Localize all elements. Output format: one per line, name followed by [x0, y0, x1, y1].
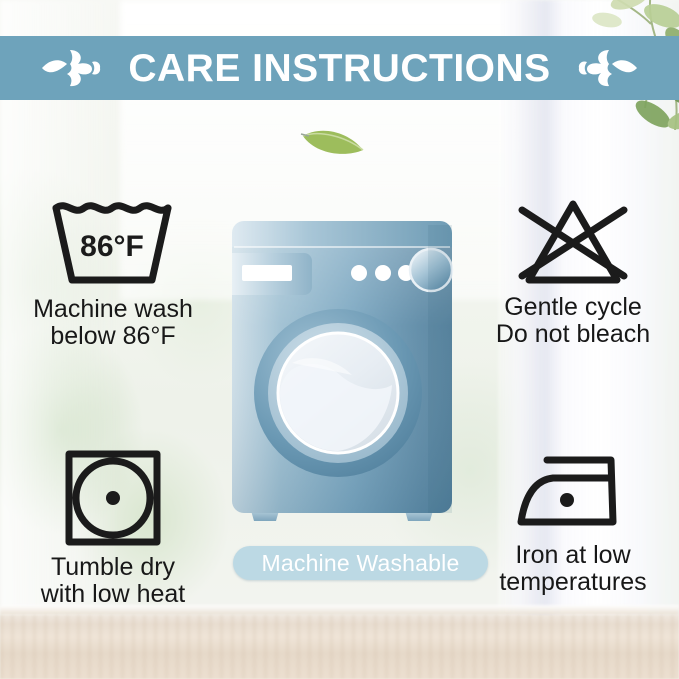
drawer-handle	[242, 265, 292, 281]
page-title: CARE INSTRUCTIONS	[128, 49, 550, 88]
care-instructions-infographic: CARE INSTRUCTIONS 86°F Machine wash belo…	[0, 0, 679, 679]
fleur-de-lis-icon	[577, 46, 639, 90]
heat-level-dot	[560, 493, 574, 507]
status-badge-label: Machine Washable	[262, 552, 460, 575]
care-symbol-machine-wash: 86°F Machine wash below 86°F	[8, 198, 218, 350]
care-symbol-do-not-bleach: Gentle cycle Do not bleach	[470, 196, 676, 348]
washer-top-panel	[232, 221, 452, 247]
tumble-dry-low-icon	[63, 448, 163, 548]
care-symbol-caption: Tumble dry with low heat	[41, 554, 186, 608]
fleur-de-lis-icon	[40, 46, 102, 90]
care-symbol-iron-low: Iron at low temperatures	[470, 452, 676, 596]
iron-one-dot-icon	[513, 452, 633, 536]
wash-temp-value: 86°F	[80, 230, 144, 263]
care-symbol-caption: Gentle cycle Do not bleach	[496, 294, 650, 348]
status-badge: Machine Washable	[233, 546, 488, 580]
wash-tub-icon: 86°F	[48, 198, 178, 290]
washing-machine-illustration	[228, 211, 456, 531]
heat-level-dot	[106, 491, 120, 505]
care-symbol-caption: Iron at low temperatures	[499, 542, 646, 596]
banner: CARE INSTRUCTIONS	[0, 36, 679, 100]
triangle-crossed-out-icon	[514, 196, 632, 288]
floating-leaf-icon	[299, 122, 369, 162]
wooden-table-surface	[0, 615, 679, 679]
indicator-dot[interactable]	[351, 265, 367, 281]
indicator-dot[interactable]	[375, 265, 391, 281]
care-symbol-tumble-dry: Tumble dry with low heat	[8, 448, 218, 608]
care-symbol-caption: Machine wash below 86°F	[33, 296, 193, 350]
